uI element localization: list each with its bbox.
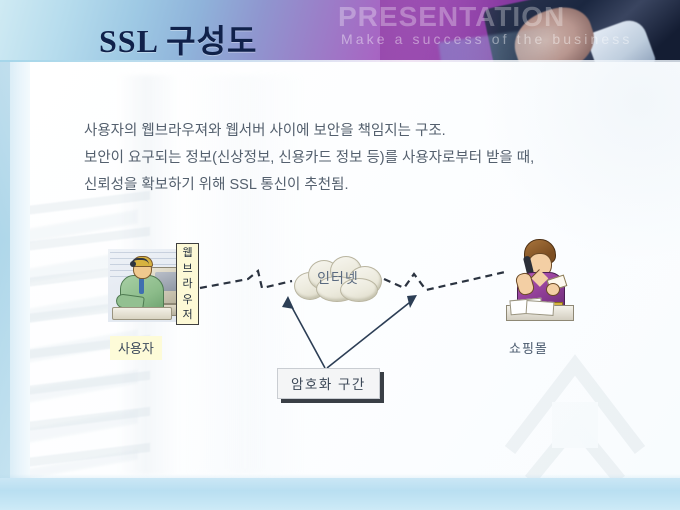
dashed-link-browser-to-internet bbox=[200, 271, 292, 288]
browser-char-5: 저 bbox=[177, 308, 198, 324]
browser-char-1: 웹 bbox=[177, 246, 198, 262]
browser-char-3: 라 bbox=[177, 277, 198, 293]
shop-node-image bbox=[506, 239, 572, 327]
user-caption: 사용자 bbox=[110, 336, 162, 360]
arrow-left-encryption bbox=[282, 296, 325, 368]
user-tie bbox=[139, 277, 144, 294]
paper-sheet-2 bbox=[526, 300, 555, 316]
internet-cloud-node: 인터넷 bbox=[290, 256, 386, 302]
user-desk bbox=[112, 307, 172, 320]
slide-canvas: PRESENTATION Make a success of the busin… bbox=[0, 0, 680, 510]
diagram-connectors bbox=[0, 0, 680, 510]
arrow-right-encryption bbox=[327, 295, 417, 368]
browser-char-4: 우 bbox=[177, 293, 198, 309]
internet-label: 인터넷 bbox=[290, 268, 386, 288]
dashed-link-internet-to-shop bbox=[384, 272, 505, 290]
shopper-hand bbox=[546, 283, 560, 296]
shop-caption: 쇼핑몰 bbox=[509, 338, 548, 357]
web-browser-label: 웹 브 라 우 저 bbox=[176, 243, 199, 325]
headset-earpiece-icon bbox=[130, 261, 136, 267]
encryption-zone-box: 암호화 구간 bbox=[277, 368, 380, 399]
browser-char-2: 브 bbox=[177, 262, 198, 278]
ssl-architecture-diagram: 웹 브 라 우 저 사용자 인터넷 bbox=[0, 0, 680, 510]
